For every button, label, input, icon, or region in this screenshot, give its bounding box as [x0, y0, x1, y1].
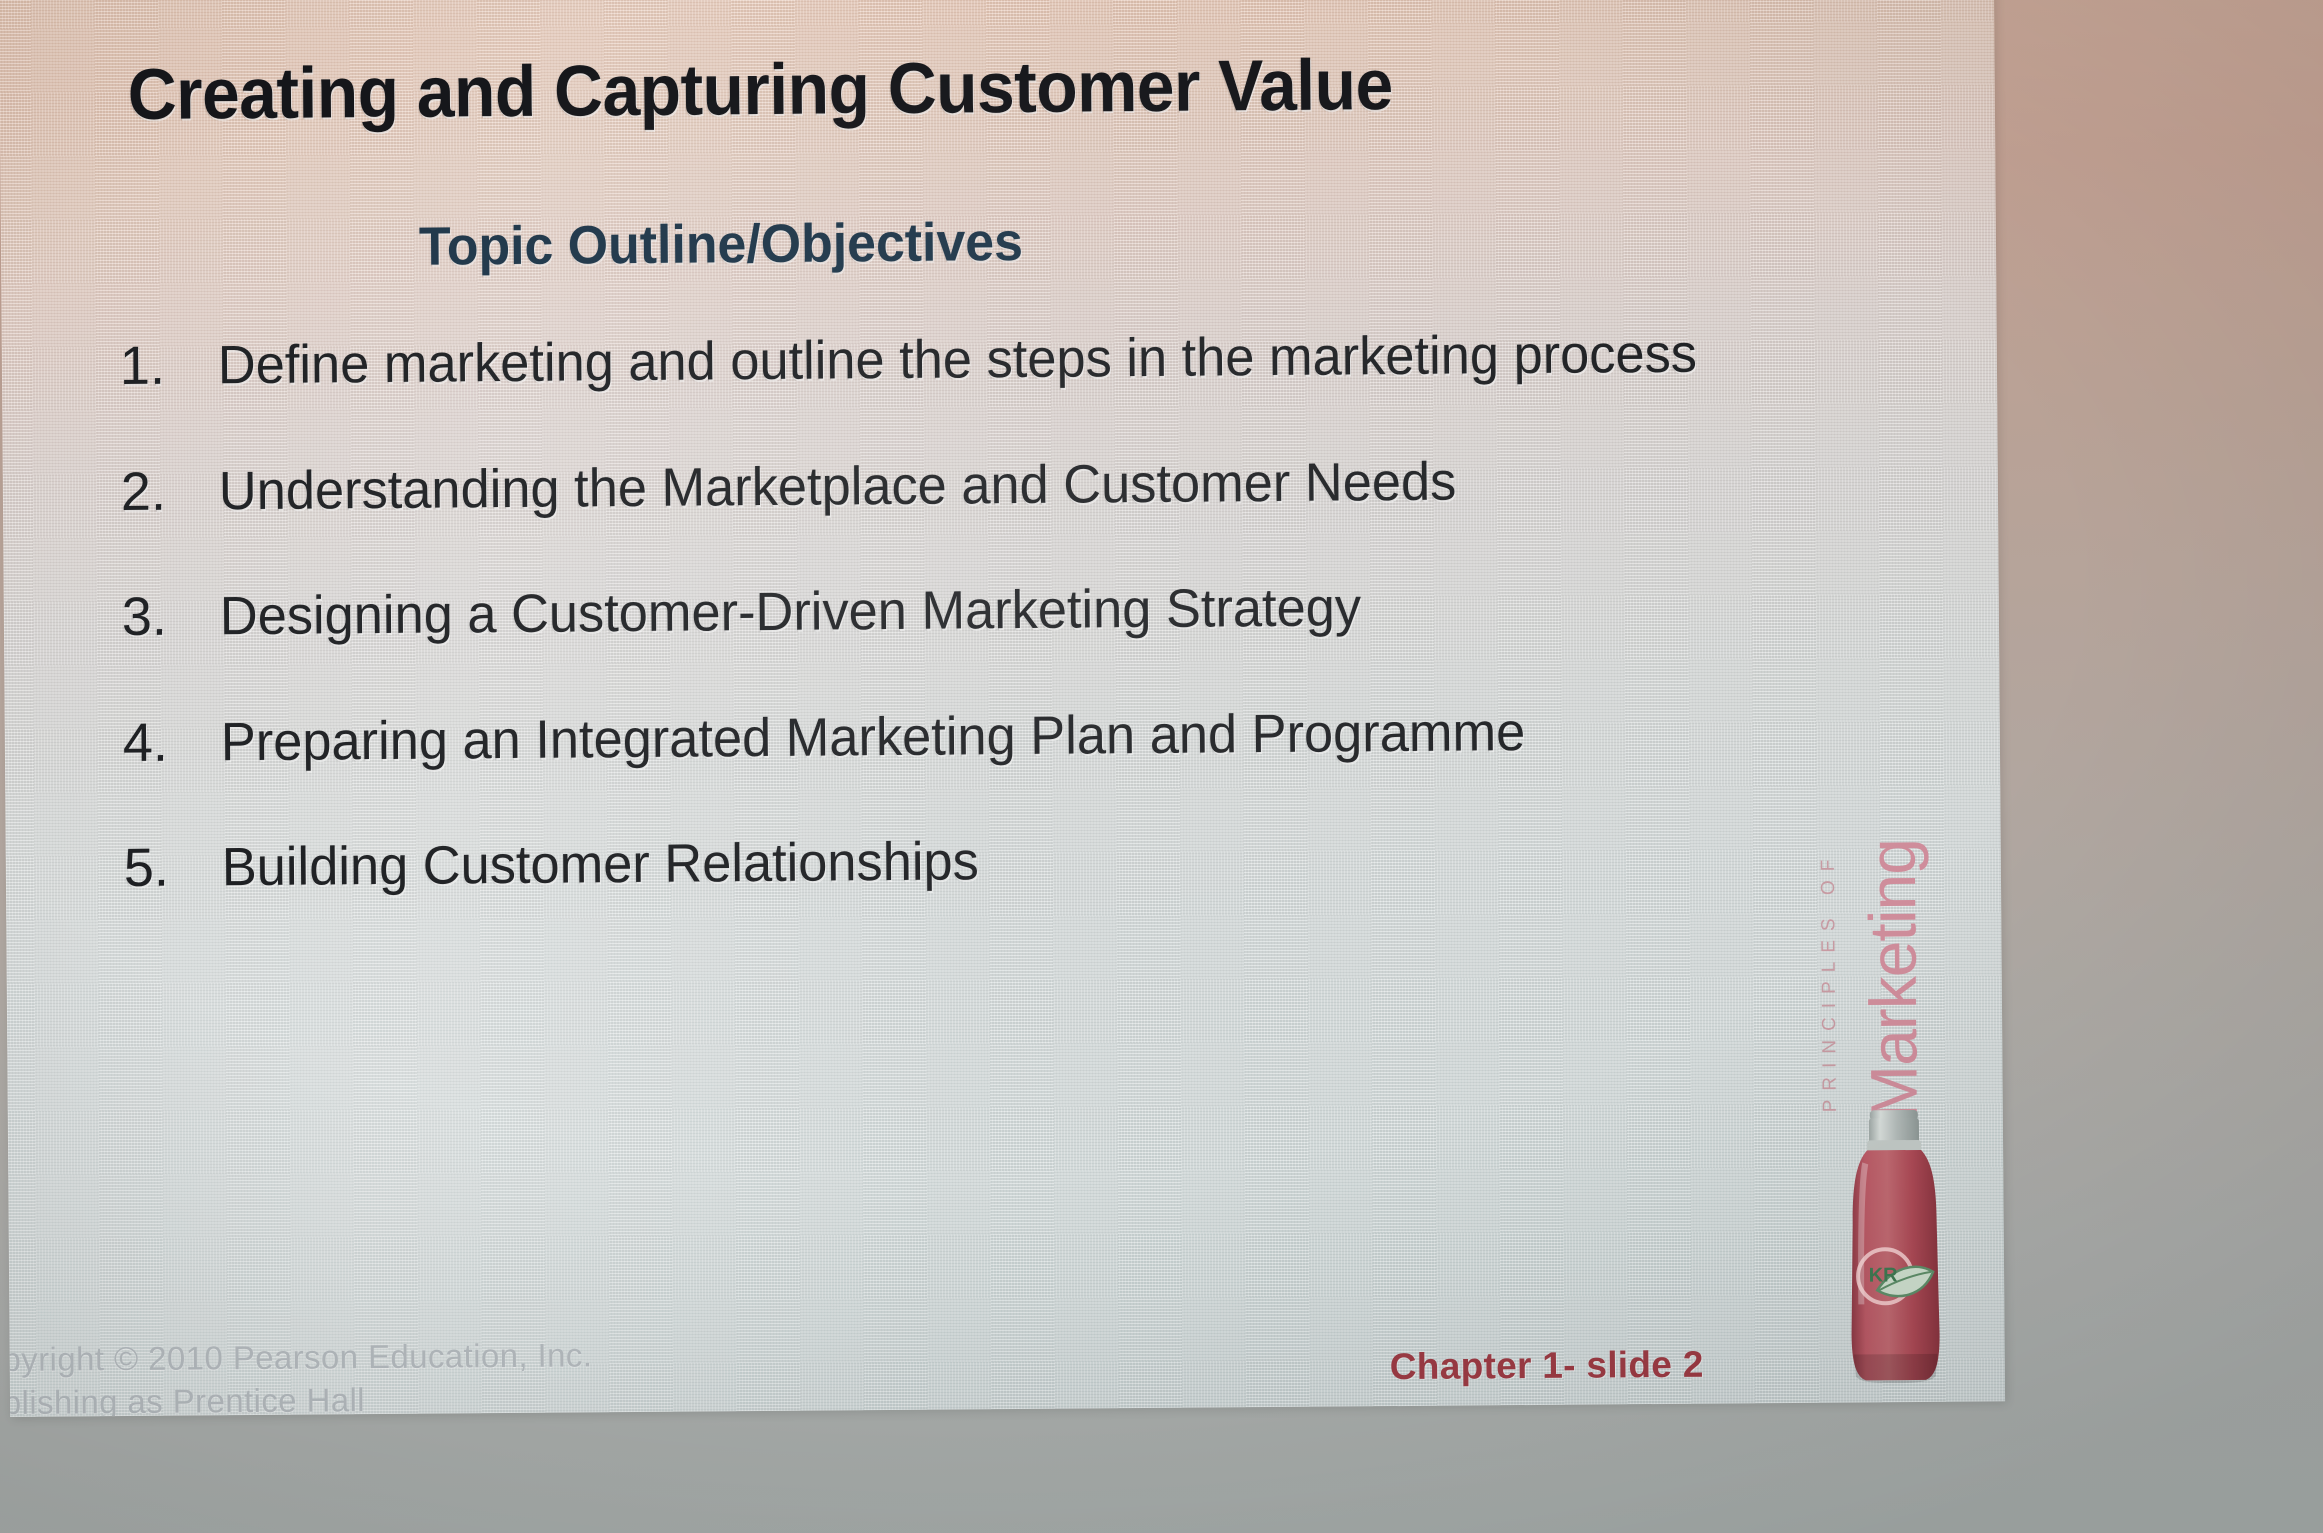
list-item: 2. Understanding the Marketplace and Cus… [121, 449, 1761, 523]
list-item-number: 3. [122, 586, 220, 648]
brand-marketing-label: Marketing [1854, 839, 1932, 1120]
copyright-line-2: ublishing as Prentice Hall [0, 1377, 593, 1417]
list-item-number: 2. [121, 461, 219, 523]
list-item-label: Preparing an Integrated Marketing Plan a… [221, 700, 1717, 773]
beverage-bottle-icon: KR [1840, 1104, 1950, 1395]
list-item-label: Define marketing and outline the steps i… [218, 324, 1714, 397]
copyright-notice: opyright © 2010 Pearson Education, Inc. … [0, 1334, 593, 1417]
beverage-bottle-image: KR [1840, 1104, 1950, 1395]
list-item-number: 5. [124, 837, 222, 899]
list-item-label: Understanding the Marketplace and Custom… [219, 449, 1715, 522]
list-item-label: Building Customer Relationships [222, 826, 1718, 899]
brand-principles-of-label: PRINCIPLES OF [1818, 851, 1842, 1113]
list-item: 4. Preparing an Integrated Marketing Pla… [123, 700, 1763, 774]
copyright-line-1: opyright © 2010 Pearson Education, Inc. [0, 1334, 592, 1382]
slide-subtitle: Topic Outline/Objectives [30, 208, 1413, 281]
presentation-slide: Creating and Capturing Customer Value To… [0, 0, 2005, 1417]
list-item-label: Designing a Customer-Driven Marketing St… [220, 575, 1716, 648]
photographed-slide-screenshot: Creating and Capturing Customer Value To… [0, 0, 2323, 1533]
list-item-number: 1. [120, 335, 218, 397]
list-item-number: 4. [123, 712, 221, 774]
topic-outline-list: 1. Define marketing and outline the step… [120, 323, 1765, 964]
list-item: 5. Building Customer Relationships [124, 825, 1764, 899]
list-item: 1. Define marketing and outline the step… [120, 323, 1760, 397]
list-item: 3. Designing a Customer-Driven Marketing… [122, 574, 1762, 648]
principles-of-marketing-wordmark: PRINCIPLES OF Marketing [1817, 762, 1940, 1113]
slide-title: Creating and Capturing Customer Value [127, 41, 1726, 136]
chapter-slide-indicator: Chapter 1- slide 2 [1390, 1344, 1704, 1388]
svg-text:KR: KR [1869, 1264, 1899, 1286]
